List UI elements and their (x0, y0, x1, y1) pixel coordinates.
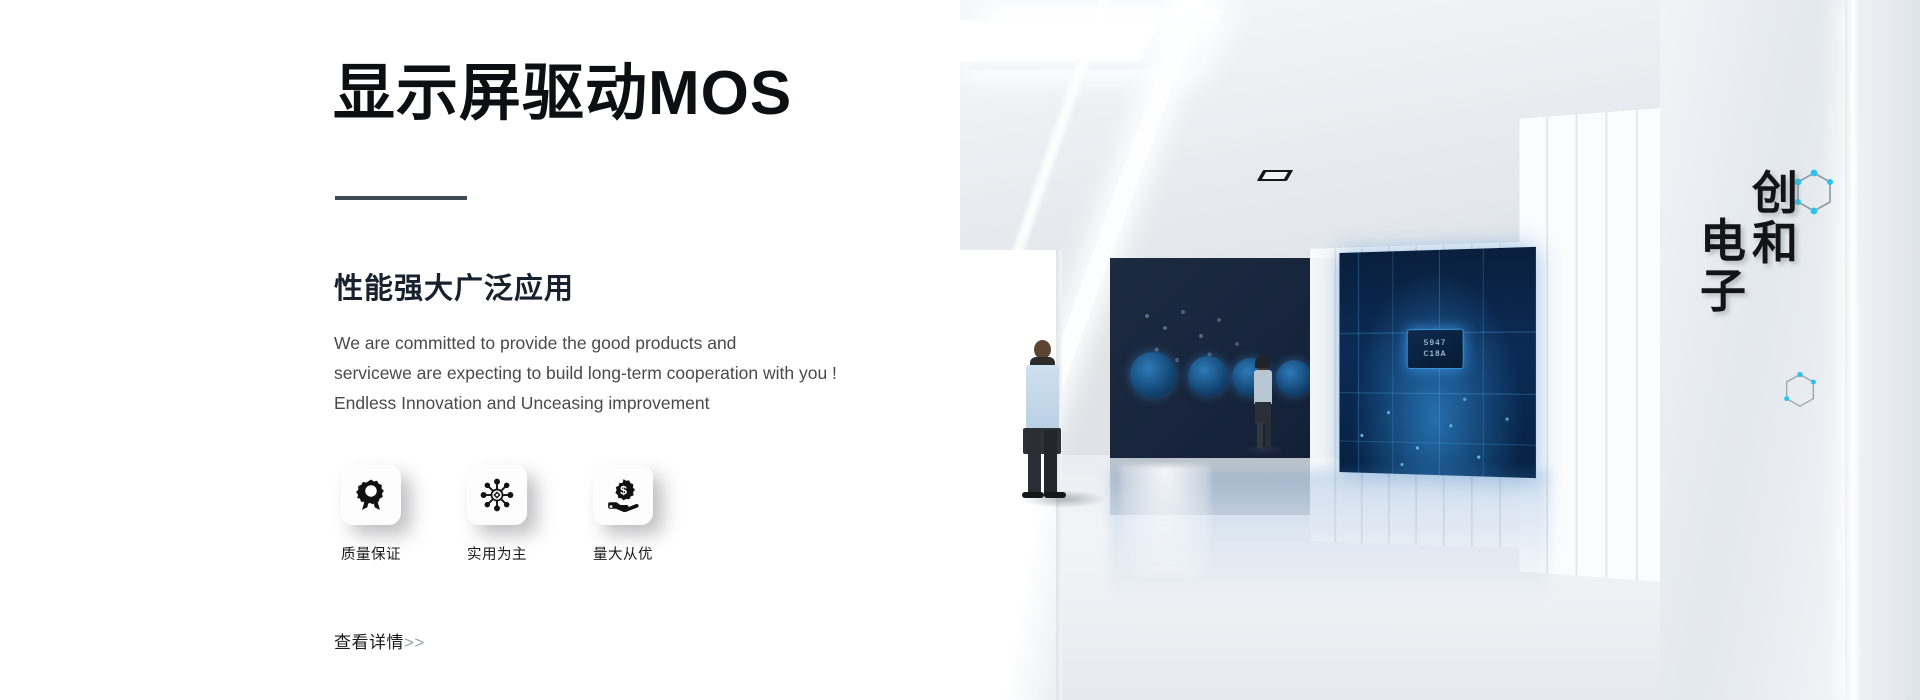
feature-badge (467, 465, 527, 525)
person-leg (1044, 430, 1057, 496)
person-shoe (1044, 492, 1066, 498)
foreground-pillar (960, 250, 1056, 700)
feature-item-quality[interactable]: 质量保证 (334, 465, 408, 564)
page-title: 显示屏驱动MOS (333, 60, 792, 128)
person-shirt (1254, 370, 1272, 404)
title-divider (335, 196, 467, 200)
view-details-link[interactable]: 查看详情>> (334, 628, 425, 653)
person-shadow (1242, 444, 1286, 455)
particle-dots (1339, 380, 1535, 479)
exhibit-disc (1276, 360, 1312, 396)
feature-list: 质量保证 (334, 465, 660, 564)
sign-column-right: 创 和 (1752, 170, 1798, 314)
exhibit-disc (1130, 352, 1176, 398)
description-line-3: Endless Innovation and Unceasing improve… (334, 388, 837, 418)
feature-label: 实用为主 (467, 543, 527, 564)
sign-char: 子 (1700, 268, 1746, 314)
sign-column-left: 电 子 (1700, 218, 1746, 314)
chip-line-2: C18A (1424, 349, 1447, 359)
sign-char: 创 (1752, 170, 1798, 216)
view-details-label: 查看详情 (334, 633, 404, 652)
person-skirt (1255, 402, 1271, 424)
led-display-screen: 5947 C18A (1339, 247, 1535, 478)
sign-char: 电 (1700, 218, 1746, 264)
description-line-1: We are committed to provide the good pro… (334, 328, 837, 358)
banner-text-panel: 显示屏驱动MOS 性能强大广泛应用 We are committed to pr… (0, 0, 960, 700)
feature-label: 量大从优 (593, 543, 653, 564)
ceiling-spotlight (1257, 170, 1293, 181)
person-shirt (1026, 365, 1059, 431)
person-leg (1265, 422, 1271, 448)
wall-brand-sign: 创 和 电 子 (1700, 170, 1798, 314)
feature-badge: $ (593, 465, 653, 525)
feature-item-bulk-discount[interactable]: $ 量大从优 (586, 465, 660, 564)
person-leg (1257, 422, 1263, 448)
person-shoe (1022, 492, 1044, 498)
feature-item-practical[interactable]: 实用为主 (460, 465, 534, 564)
hex-molecule-icon (1780, 370, 1820, 414)
description-line-2: servicewe are expecting to build long-te… (334, 358, 837, 388)
feature-badge (341, 465, 401, 525)
description-paragraph: We are committed to provide the good pro… (334, 328, 837, 418)
view-details-arrows: >> (404, 633, 425, 652)
right-wall-light-slot (1845, 0, 1861, 700)
light-floor-reflection (1120, 465, 1210, 575)
feature-label: 质量保证 (341, 543, 401, 564)
chip-line-1: 5947 (1424, 338, 1447, 348)
hand-money-icon: $ (606, 478, 640, 512)
chip-graphic: 5947 C18A (1407, 329, 1464, 369)
exhibit-disc (1188, 356, 1228, 396)
sign-char: 和 (1752, 220, 1798, 266)
svg-text:$: $ (620, 484, 627, 498)
right-wall-far (1860, 0, 1920, 700)
award-ribbon-icon (354, 478, 388, 512)
subtitle: 性能强大广泛应用 (334, 265, 574, 307)
person-hair (1255, 356, 1270, 368)
person-leg (1028, 430, 1041, 496)
network-nodes-icon (480, 478, 514, 512)
ceiling-skylight-glow (960, 20, 1160, 62)
showroom-interior-photo: 5947 C18A 创 和 电 子 (960, 0, 1920, 700)
product-hero-banner: 显示屏驱动MOS 性能强大广泛应用 We are committed to pr… (0, 0, 1920, 700)
